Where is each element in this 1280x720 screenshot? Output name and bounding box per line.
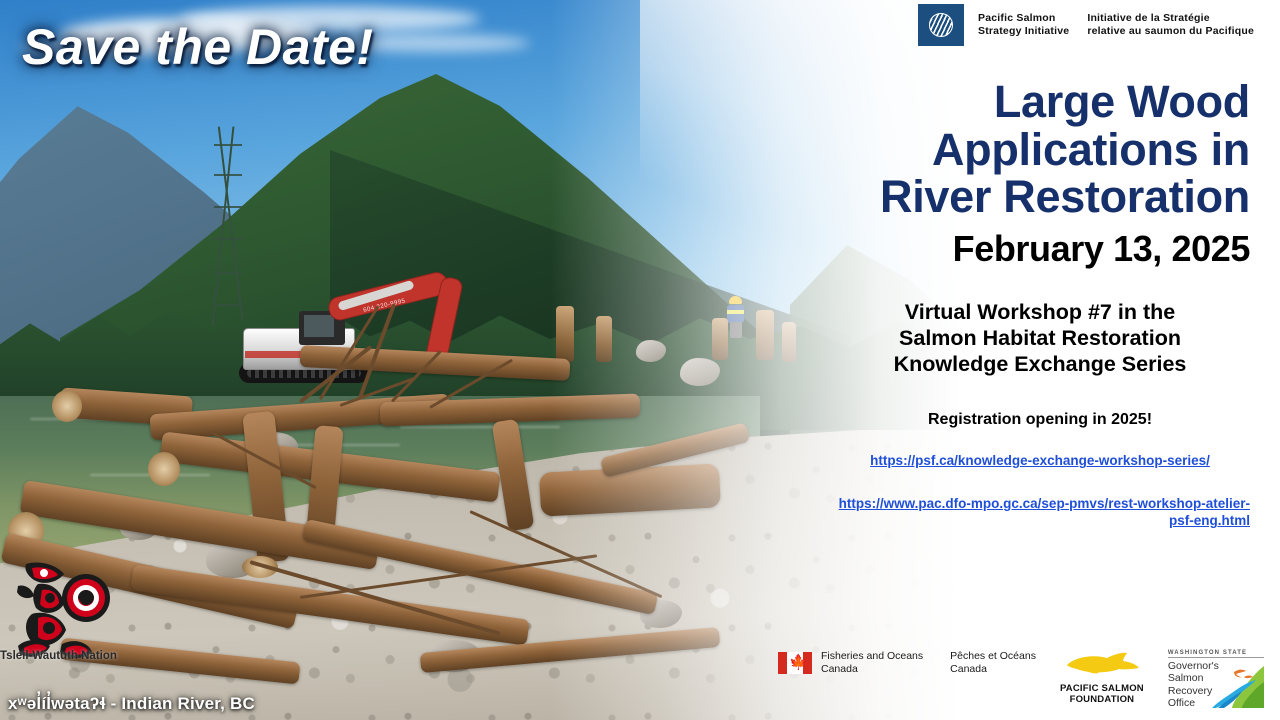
pssi-title-en: Pacific Salmon Strategy Initiative <box>978 12 1069 38</box>
pssi-title-fr: Initiative de la Stratégie relative au s… <box>1087 12 1254 38</box>
page-title-line3: River Restoration <box>830 173 1250 221</box>
photo-caption: xʷəl̓íl̓wətaʔɬ - Indian River, BC <box>8 694 255 714</box>
event-date: February 13, 2025 <box>830 229 1250 269</box>
psf-workshop-series-link[interactable]: https://psf.ca/knowledge-exchange-worksh… <box>830 453 1250 470</box>
pssi-mark <box>918 4 964 46</box>
dfo-label-fr-line2: Canada <box>950 663 1036 676</box>
pssi-title-en-line1: Pacific Salmon <box>978 12 1069 25</box>
globe-swirl-icon <box>929 13 953 37</box>
poster-root: 604 220-9995 <box>0 0 1280 720</box>
event-subtitle: Virtual Workshop #7 in the Salmon Habita… <box>830 299 1250 378</box>
dfo-label-fr-line1: Pêches et Océans <box>950 650 1036 663</box>
dfo-label-en: Fisheries and Oceans Canada <box>821 650 923 676</box>
psf-label: PACIFIC SALMON FOUNDATION <box>1060 683 1144 706</box>
canada-flag-icon: 🍁 <box>778 652 812 674</box>
psf-label-line1: PACIFIC SALMON <box>1060 683 1144 694</box>
save-the-date-heading: Save the Date! <box>22 22 374 72</box>
salmon-icon <box>1063 650 1141 676</box>
info-panel: Large Wood Applications in River Restora… <box>830 78 1250 530</box>
pssi-title-fr-line2: relative au saumon du Pacifique <box>1087 25 1254 38</box>
dfo-label-fr: Pêches et Océans Canada <box>950 650 1036 676</box>
page-title-line2: Applications in <box>830 126 1250 174</box>
event-subtitle-line1: Virtual Workshop #7 in the <box>830 299 1250 325</box>
registration-note: Registration opening in 2025! <box>830 411 1250 429</box>
psf-label-line2: FOUNDATION <box>1060 694 1144 705</box>
pacific-salmon-foundation-logo: PACIFIC SALMON FOUNDATION <box>1060 650 1144 706</box>
page-title: Large Wood Applications in River Restora… <box>830 78 1250 221</box>
dfo-workshop-link[interactable]: https://www.pac.dfo-mpo.gc.ca/sep-pmvs/r… <box>830 496 1250 530</box>
footer-logos: 🍁 Fisheries and Oceans Canada Pêches et … <box>778 650 1264 710</box>
pssi-title-en-line2: Strategy Initiative <box>978 25 1069 38</box>
wgsro-state-label: WASHINGTON STATE <box>1168 650 1264 658</box>
dfo-logo: 🍁 Fisheries and Oceans Canada Pêches et … <box>778 650 1036 676</box>
pssi-logo: Pacific Salmon Strategy Initiative Initi… <box>918 4 1254 46</box>
dfo-label-en-line1: Fisheries and Oceans <box>821 650 923 663</box>
event-subtitle-line3: Knowledge Exchange Series <box>830 351 1250 377</box>
tsleil-waututh-nation-label: Tsleil-Waututh Nation <box>0 650 130 662</box>
pssi-title-fr-line1: Initiative de la Stratégie <box>1087 12 1254 25</box>
washington-gsro-logo: WASHINGTON STATE Governor's Salmon Recov… <box>1168 650 1264 710</box>
page-title-line1: Large Wood <box>830 78 1250 126</box>
event-subtitle-line2: Salmon Habitat Restoration <box>830 325 1250 351</box>
dfo-label-en-line2: Canada <box>821 663 923 676</box>
river-salmon-landscape-icon <box>1212 662 1264 708</box>
